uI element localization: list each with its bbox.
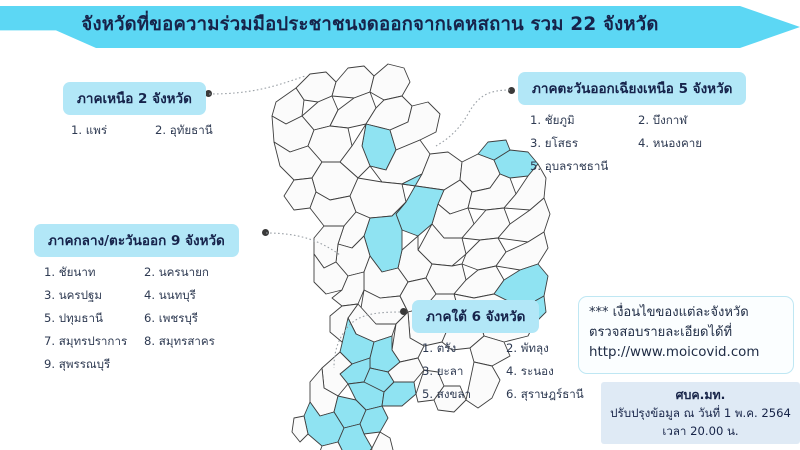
region-label-northeast: ภาคตะวันออกเฉียงเหนือ 5 จังหวัด [518,72,746,105]
province-item: 5. อุบลราชธานี [518,158,626,176]
region-callout-south: ภาคใต้ 6 จังหวัด 1. ตรัง 2. พัทลุง 3. ยะ… [412,300,580,409]
province-item: 1. ตรัง [412,340,496,358]
province-row: 3. นครปฐม 4. นนทบุรี [34,287,239,305]
province-row: 5. สงขลา 6. สุราษฎร์ธานี [412,386,580,404]
province-item: 3. นครปฐม [34,287,134,305]
note-line-2: ตรวจสอบรายละเอียดได้ที่ [589,323,785,343]
province-item: 1. ชัยภูมิ [518,112,626,130]
region-callout-central: ภาคกลาง/ตะวันออก 9 จังหวัด 1. ชัยนาท 2. … [34,224,239,379]
footer-updated-date: ปรับปรุงข้อมูล ณ วันที่ 1 พ.ค. 2564 [610,405,791,423]
region-label-north: ภาคเหนือ 2 จังหวัด [63,82,206,115]
province-item: 4. นนทบุรี [134,287,234,305]
province-item: 2. อุทัยธานี [147,122,231,140]
footer-box: ศบค.มท. ปรับปรุงข้อมูล ณ วันที่ 1 พ.ค. 2… [601,382,800,444]
province-row: 1. ชัยภูมิ 2. บึงกาฬ [518,112,746,130]
province-item: 2. พัทลุง [496,340,580,358]
province-item: 4. หนองคาย [626,135,734,153]
province-item: 2. บึงกาฬ [626,112,734,130]
province-item: 1. ชัยนาท [34,264,134,282]
region-label-south: ภาคใต้ 6 จังหวัด [412,300,539,333]
province-item: 2. นครนายก [134,264,234,282]
province-row: 1. ตรัง 2. พัทลุง [412,340,580,358]
note-box: *** เงื่อนไขของแต่ละจังหวัด ตรวจสอบรายละ… [578,296,794,374]
province-row: 9. สุพรรณบุรี [34,356,239,374]
province-row: 5. ปทุมธานี 6. เพชรบุรี [34,310,239,328]
province-row: 1. ชัยนาท 2. นครนายก [34,264,239,282]
note-line-1: *** เงื่อนไขของแต่ละจังหวัด [589,303,785,323]
province-list-northeast: 1. ชัยภูมิ 2. บึงกาฬ 3. ยโสธร 4. หนองคาย… [518,112,746,176]
province-item: 6. สุราษฎร์ธานี [496,386,580,404]
province-row: 7. สมุทรปราการ 8. สมุทรสาคร [34,333,239,351]
connector-dot-central [262,229,269,236]
province-row: 3. ยโสธร 4. หนองคาย [518,135,746,153]
province-row: 3. ยะลา 4. ระนอง [412,363,580,381]
province-item: 7. สมุทรปราการ [34,333,134,351]
page-title: จังหวัดที่ขอความร่วมมือประชาชนงดออกจากเค… [0,6,740,42]
connector-dot-south [400,308,407,315]
region-label-central: ภาคกลาง/ตะวันออก 9 จังหวัด [34,224,239,257]
footer-organization: ศบค.มท. [676,385,726,404]
province-item: 3. ยะลา [412,363,496,381]
region-callout-northeast: ภาคตะวันออกเฉียงเหนือ 5 จังหวัด 1. ชัยภู… [518,72,746,181]
province-item: 5. ปทุมธานี [34,310,134,328]
province-item: 6. เพชรบุรี [134,310,234,328]
province-item: 5. สงขลา [412,386,496,404]
province-list-north: 1. แพร่ 2. อุทัยธานี [63,122,231,140]
footer-updated-time: เวลา 20.00 น. [662,423,738,441]
province-item: 3. ยโสธร [518,135,626,153]
province-item: 1. แพร่ [63,122,147,140]
connector-dot-northeast [508,87,515,94]
province-item: 4. ระนอง [496,363,580,381]
province-item: 8. สมุทรสาคร [134,333,234,351]
province-row: 5. อุบลราชธานี [518,158,746,176]
province-list-central: 1. ชัยนาท 2. นครนายก 3. นครปฐม 4. นนทบุร… [34,264,239,374]
province-item: 9. สุพรรณบุรี [34,356,134,374]
province-row: 1. แพร่ 2. อุทัยธานี [63,122,231,140]
province-list-south: 1. ตรัง 2. พัทลุง 3. ยะลา 4. ระนอง 5. สง… [412,340,580,404]
region-callout-north: ภาคเหนือ 2 จังหวัด 1. แพร่ 2. อุทัยธานี [63,82,231,145]
infographic-canvas: จังหวัดที่ขอความร่วมมือประชาชนงดออกจากเค… [0,0,800,450]
note-url[interactable]: http://www.moicovid.com [589,343,785,363]
